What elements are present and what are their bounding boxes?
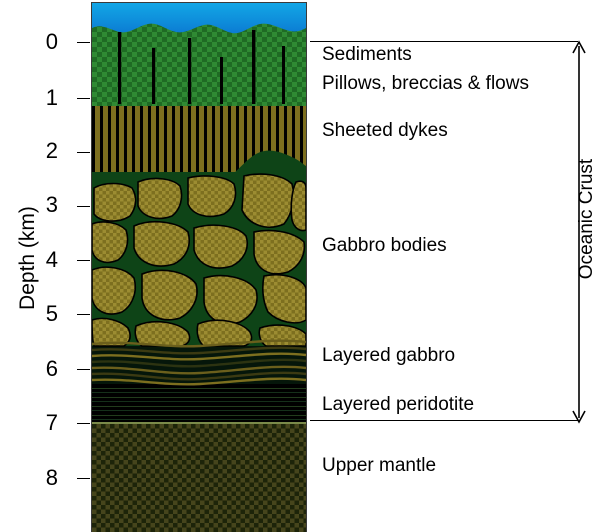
- y-tick-label-7: 7: [18, 412, 58, 434]
- label-layered-peridotite: Layered peridotite: [322, 395, 474, 415]
- label-upper-mantle: Upper mantle: [322, 456, 436, 476]
- y-tick-label-1: 1: [18, 87, 58, 109]
- y-tick-label-0: 0: [18, 31, 58, 53]
- y-tick-mark-3: [77, 206, 90, 207]
- y-tick-label-3: 3: [18, 194, 58, 216]
- y-tick-label-5: 5: [18, 303, 58, 325]
- crust-top-line: [310, 41, 578, 42]
- layered-gabbro-bands: [92, 341, 306, 385]
- y-tick-label-8: 8: [18, 467, 58, 489]
- pillow-body: [92, 24, 306, 106]
- y-tick-mark-5: [77, 314, 90, 315]
- label-pillows: Pillows, breccias & flows: [322, 74, 529, 94]
- label-gabbro-bodies: Gabbro bodies: [322, 236, 447, 256]
- stratigraphic-column: [91, 2, 307, 532]
- layer-contacts-overlay: [92, 2, 306, 532]
- y-tick-mark-2: [77, 152, 90, 153]
- y-tick-mark-7: [77, 423, 90, 424]
- label-sediments: Sediments: [322, 45, 412, 65]
- crust-bottom-line: [310, 420, 578, 421]
- y-tick-mark-8: [77, 478, 90, 479]
- y-tick-mark-6: [77, 369, 90, 370]
- y-tick-label-4: 4: [18, 249, 58, 271]
- y-tick-mark-1: [77, 98, 90, 99]
- y-tick-mark-4: [77, 260, 90, 261]
- figure-canvas: Depth (km) 0 1 2 3 4 5 6 7 8: [0, 0, 612, 532]
- y-tick-label-6: 6: [18, 358, 58, 380]
- label-layered-gabbro: Layered gabbro: [322, 346, 455, 366]
- oceanic-crust-label: Oceanic Crust: [576, 129, 598, 309]
- label-sheeted-dykes: Sheeted dykes: [322, 121, 448, 141]
- y-tick-mark-0: [77, 42, 90, 43]
- y-tick-label-2: 2: [18, 140, 58, 162]
